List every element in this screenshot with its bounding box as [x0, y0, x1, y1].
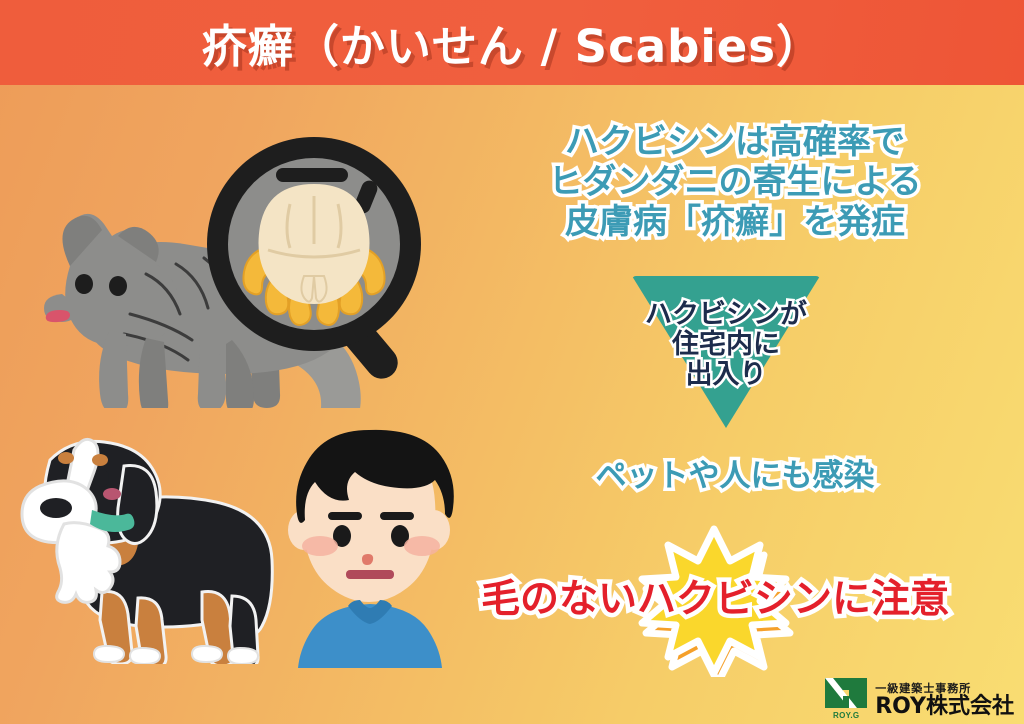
page-title: 疥癬（かいせん / Scabies）: [202, 10, 822, 75]
warning-text: 毛のないハクビシンに注意: [481, 577, 949, 622]
civet-with-magnifier-illustration: [18, 118, 438, 408]
logo-company-name: ROY株式会社: [875, 696, 1014, 718]
infection-note: ペットや人にも感染: [500, 450, 970, 495]
poster-canvas: 疥癬（かいせん / Scabies）: [0, 0, 1024, 724]
triangle-callout: ハクビシンが 住宅内に 出入り: [632, 276, 820, 428]
title-banner: 疥癬（かいせん / Scabies）: [0, 0, 1024, 85]
dog-illustration: [6, 414, 286, 664]
triangle-line-3: 出入り: [584, 360, 868, 390]
man-illustration: [272, 418, 472, 668]
logo-text-block: 一級建築士事務所 ROY株式会社: [875, 683, 1014, 720]
triangle-line-1: ハクビシンが: [584, 300, 868, 330]
triangle-callout-text: ハクビシンが 住宅内に 出入り: [584, 300, 868, 391]
headline-block: ハクビシンは高確率で ヒダンダニの寄生による 皮膚病「疥癬」を発症: [500, 122, 970, 242]
roy-g-logo-mark-icon: ROY.G: [823, 676, 869, 720]
warning-block: 毛のないハクビシンに注意: [415, 568, 1015, 624]
company-logo[interactable]: ROY.G 一級建築士事務所 ROY株式会社: [823, 676, 1014, 720]
logo-mark-label: ROY.G: [823, 711, 869, 720]
headline-line-3: 皮膚病「疥癬」を発症: [500, 202, 970, 242]
infection-note-text: ペットや人にも感染: [596, 458, 875, 494]
logo-subtitle: 一級建築士事務所: [875, 683, 1014, 694]
triangle-line-2: 住宅内に: [584, 330, 868, 360]
headline-line-1: ハクビシンは高確率で: [500, 122, 970, 162]
headline-line-2: ヒダンダニの寄生による: [500, 162, 970, 202]
